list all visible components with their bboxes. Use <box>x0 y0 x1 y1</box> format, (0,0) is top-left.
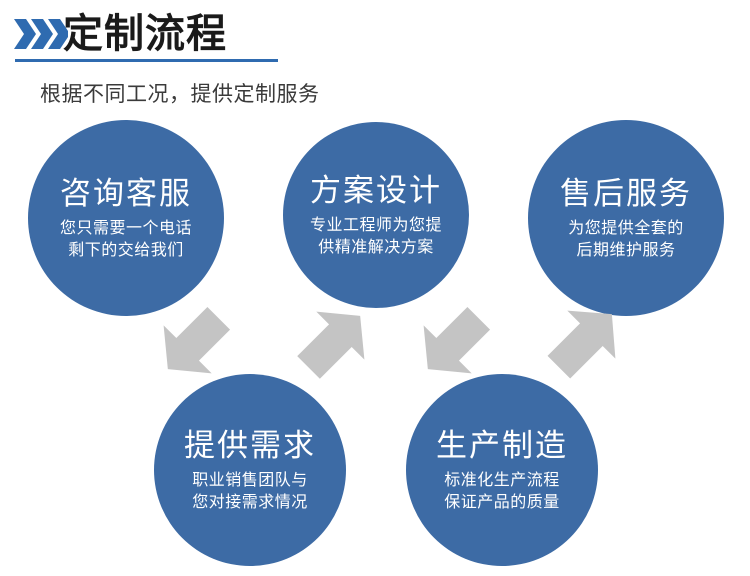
arrow-up-right-icon <box>288 300 380 384</box>
flow-step-circle-production[interactable]: 生产制造 标准化生产流程 保证产品的质量 <box>406 374 598 566</box>
flow-step-desc-line1: 专业工程师为您提 <box>310 215 442 237</box>
flow-step-circle-consultation[interactable]: 咨询客服 您只需要一个电话 剩下的交给我们 <box>28 120 224 316</box>
flow-step-desc-line1: 职业销售团队与 <box>192 470 308 492</box>
flow-step-title: 提供需求 <box>184 427 316 465</box>
flow-step-desc-line2: 供精准解决方案 <box>318 237 434 259</box>
flow-step-title: 咨询客服 <box>60 175 192 213</box>
arrow-down-right-icon <box>408 302 500 384</box>
arrow-up-right-icon <box>538 298 632 384</box>
triple-chevron-right-icon <box>14 17 68 51</box>
flow-step-title: 方案设计 <box>310 172 442 210</box>
page-subtitle: 根据不同工况，提供定制服务 <box>40 80 320 110</box>
flow-step-desc-line1: 标准化生产流程 <box>444 470 560 492</box>
arrow-down-right-icon <box>148 302 240 384</box>
flow-step-circle-design[interactable]: 方案设计 专业工程师为您提 供精准解决方案 <box>283 122 469 308</box>
flow-step-desc-line2: 后期维护服务 <box>576 240 675 262</box>
flow-step-desc-line2: 您对接需求情况 <box>192 492 308 514</box>
page-header: 定制流程 <box>0 0 750 72</box>
flow-step-desc-line1: 为您提供全套的 <box>568 218 684 240</box>
flow-step-title: 售后服务 <box>560 175 692 213</box>
title-underline-divider <box>15 59 278 62</box>
flow-step-desc-line2: 剩下的交给我们 <box>68 240 184 262</box>
flow-step-desc-line1: 您只需要一个电话 <box>60 218 192 240</box>
page-title: 定制流程 <box>63 8 227 60</box>
flow-step-desc-line2: 保证产品的质量 <box>444 492 560 514</box>
infographic-canvas: 定制流程 根据不同工况，提供定制服务 咨询客服 您只需要一个电话 剩下的交给我们… <box>0 0 750 576</box>
flow-step-circle-requirements[interactable]: 提供需求 职业销售团队与 您对接需求情况 <box>154 374 346 566</box>
flow-step-title: 生产制造 <box>436 427 568 465</box>
flow-step-circle-aftersales[interactable]: 售后服务 为您提供全套的 后期维护服务 <box>528 120 724 316</box>
